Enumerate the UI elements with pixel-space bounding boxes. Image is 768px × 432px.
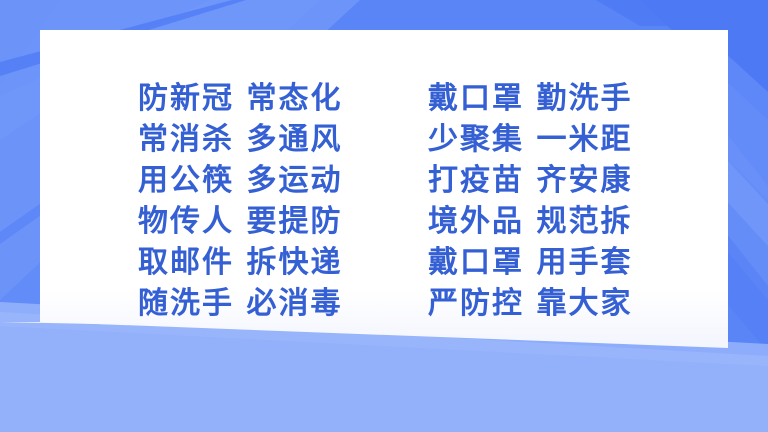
slogan-left-row-5: 取邮件 拆快递	[138, 248, 354, 278]
slogan-left-row-6: 随洗手 必消毒	[138, 289, 354, 319]
slogan-right-row-5: 戴口罩 用手套	[428, 248, 644, 278]
slogan-right-row-2: 少聚集 一米距	[428, 125, 644, 155]
slogan-left-row-2: 常消杀 多通风	[138, 125, 354, 155]
slogan-right-row-4: 境外品 规范拆	[428, 207, 644, 237]
slogan-left-row-4: 物传人 要提防	[138, 207, 354, 237]
slogan-right-row-3: 打疫苗 齐安康	[428, 166, 644, 196]
slogan-left-row-1: 防新冠 常态化	[138, 84, 354, 114]
slogan-right-row-1: 戴口罩 勤洗手	[428, 84, 644, 114]
slogan-left-row-3: 用公筷 多运动	[138, 166, 354, 196]
poster-canvas: 防新冠 常态化 戴口罩 勤洗手 常消杀 多通风 少聚集 一米距 用公筷 多运动 …	[0, 0, 768, 432]
slogan-grid: 防新冠 常态化 戴口罩 勤洗手 常消杀 多通风 少聚集 一米距 用公筷 多运动 …	[138, 78, 650, 324]
slogan-right-row-6: 严防控 靠大家	[428, 289, 644, 319]
slogan-text-block: 防新冠 常态化 戴口罩 勤洗手 常消杀 多通风 少聚集 一米距 用公筷 多运动 …	[0, 0, 768, 432]
